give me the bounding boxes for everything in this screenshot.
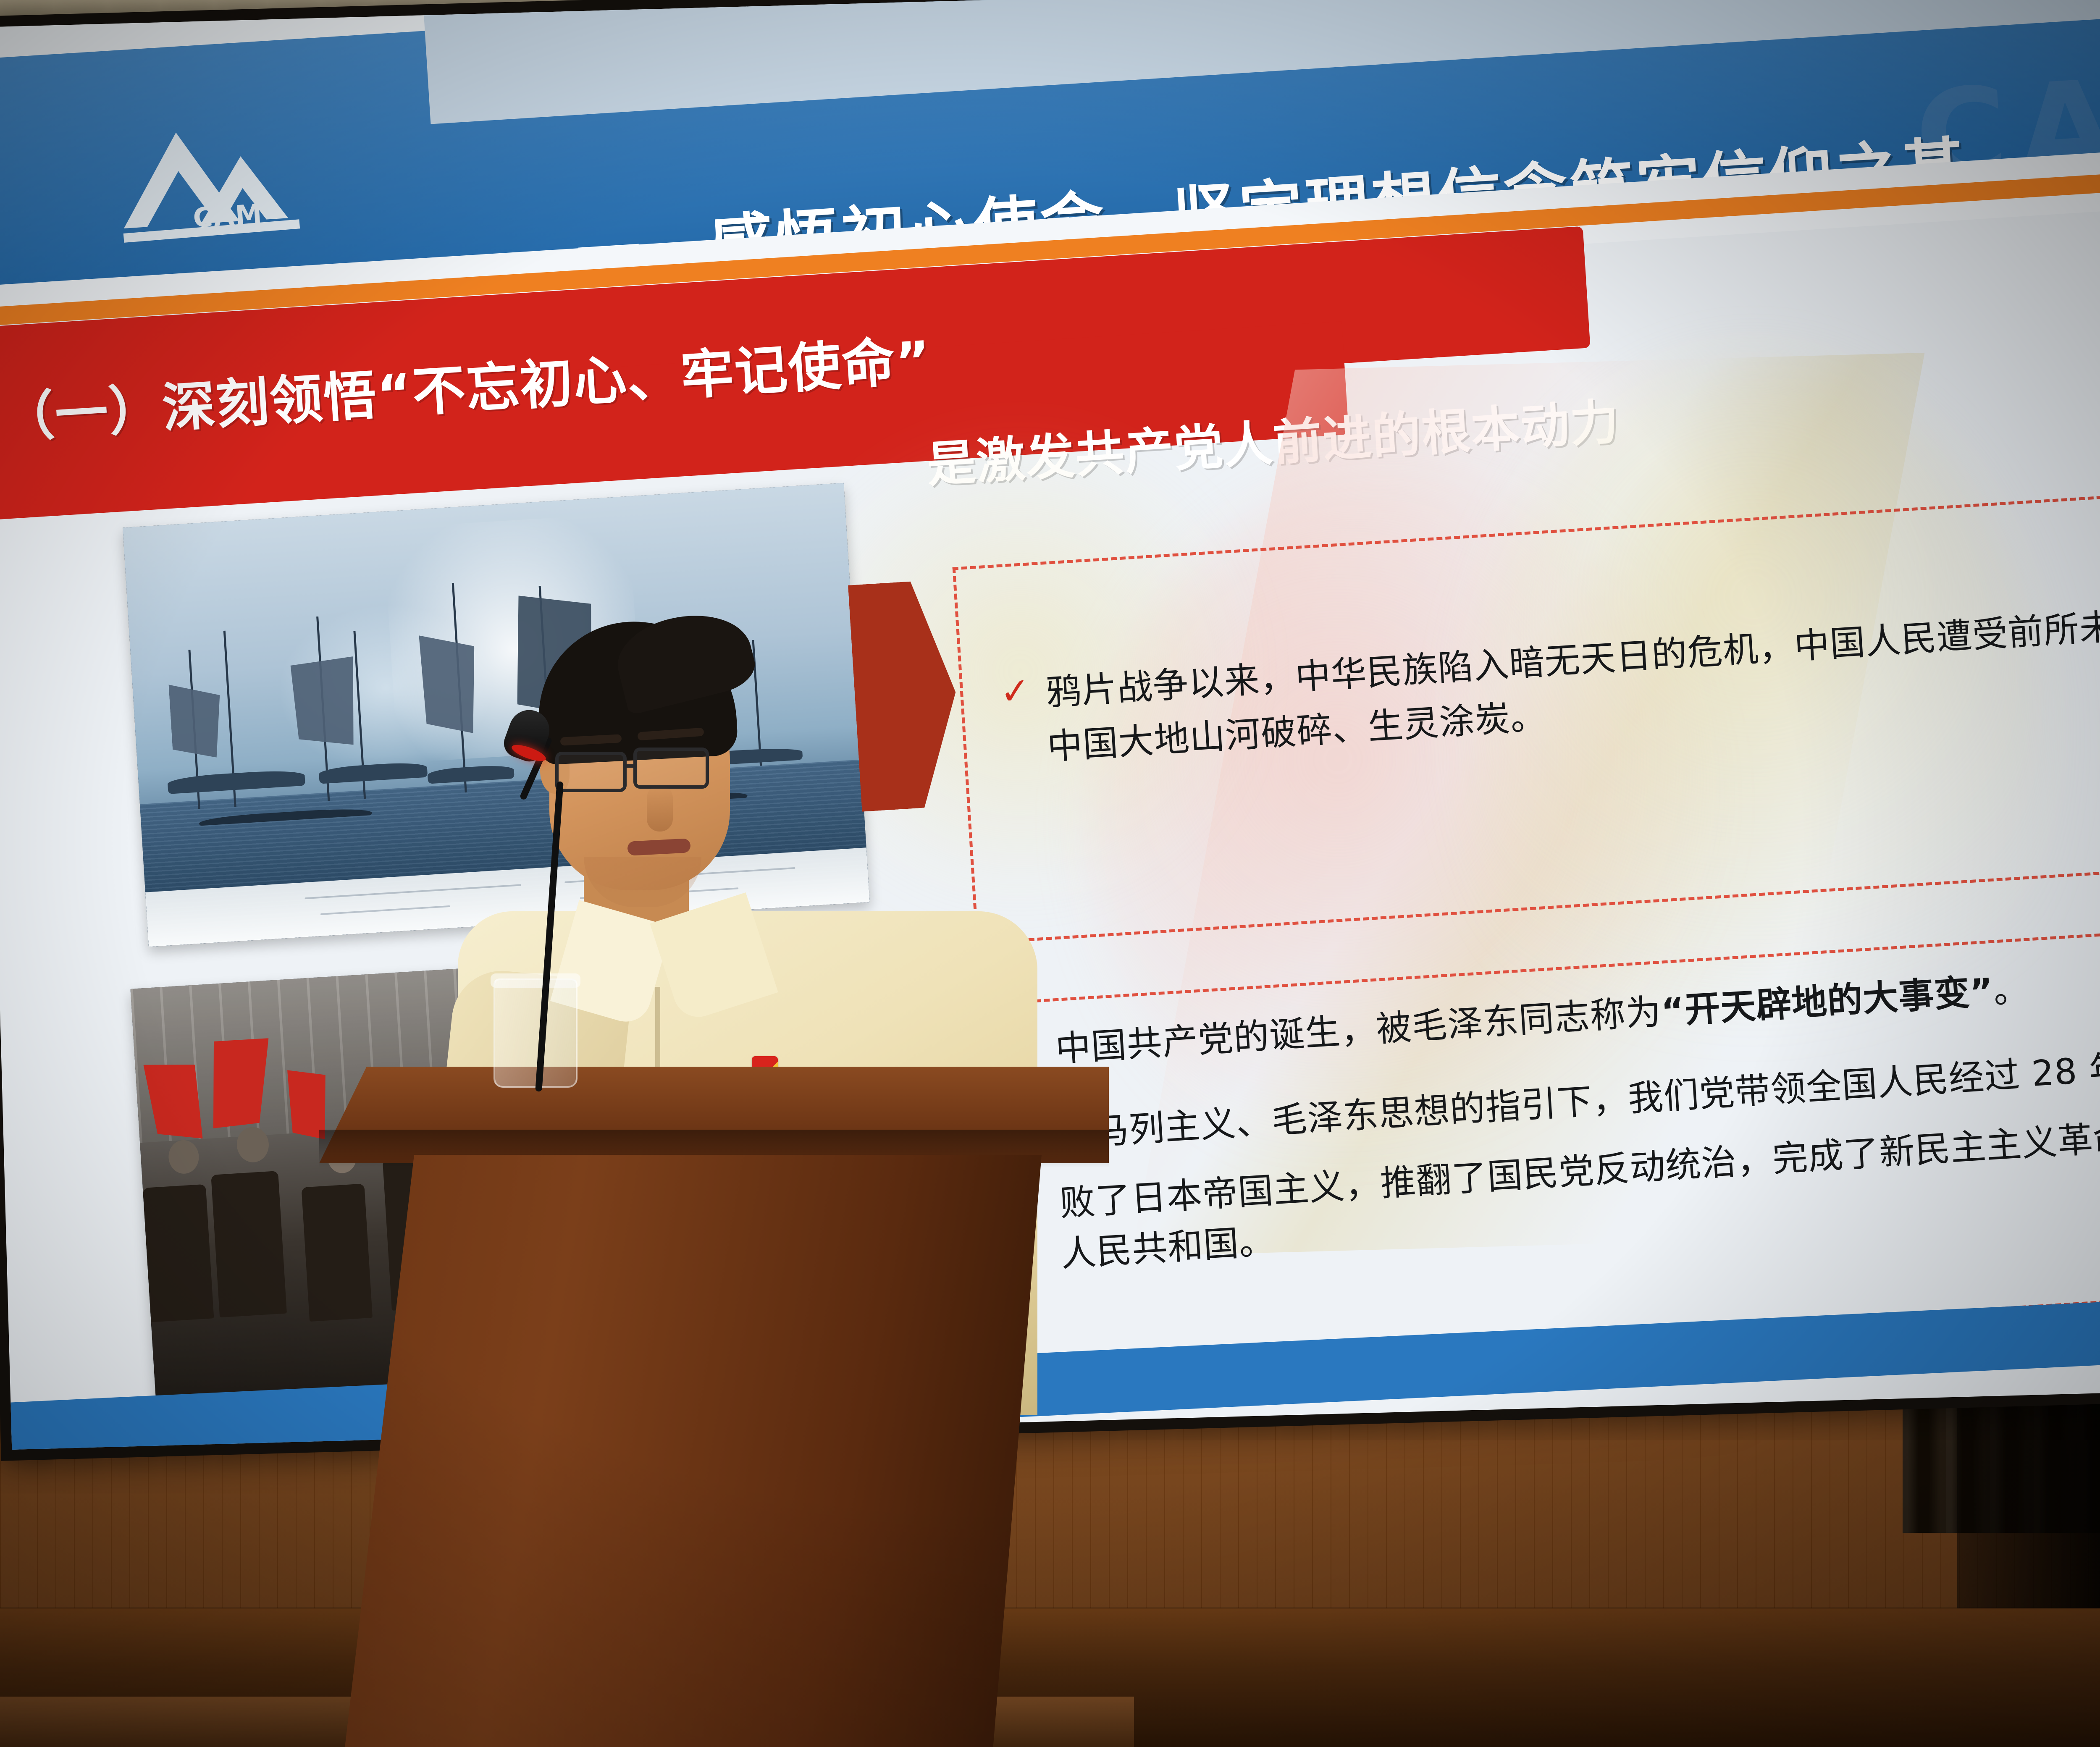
cam-logo: CAM <box>112 111 322 262</box>
glasses-lens-left <box>555 752 627 792</box>
water-glass <box>493 978 577 1088</box>
glasses-lens-right <box>633 748 709 789</box>
svg-text:CAM: CAM <box>192 199 264 234</box>
podium-body <box>344 1155 1042 1747</box>
podium <box>319 1067 1109 1747</box>
glasses-bridge <box>626 764 636 768</box>
speaker-nose <box>647 785 673 832</box>
conference-room: CAM CAM 一、感悟初心使命，坚定理想信念筑牢信仰之基 <box>0 0 2100 1747</box>
bullet-text-tail: 。 <box>1992 962 2031 1018</box>
